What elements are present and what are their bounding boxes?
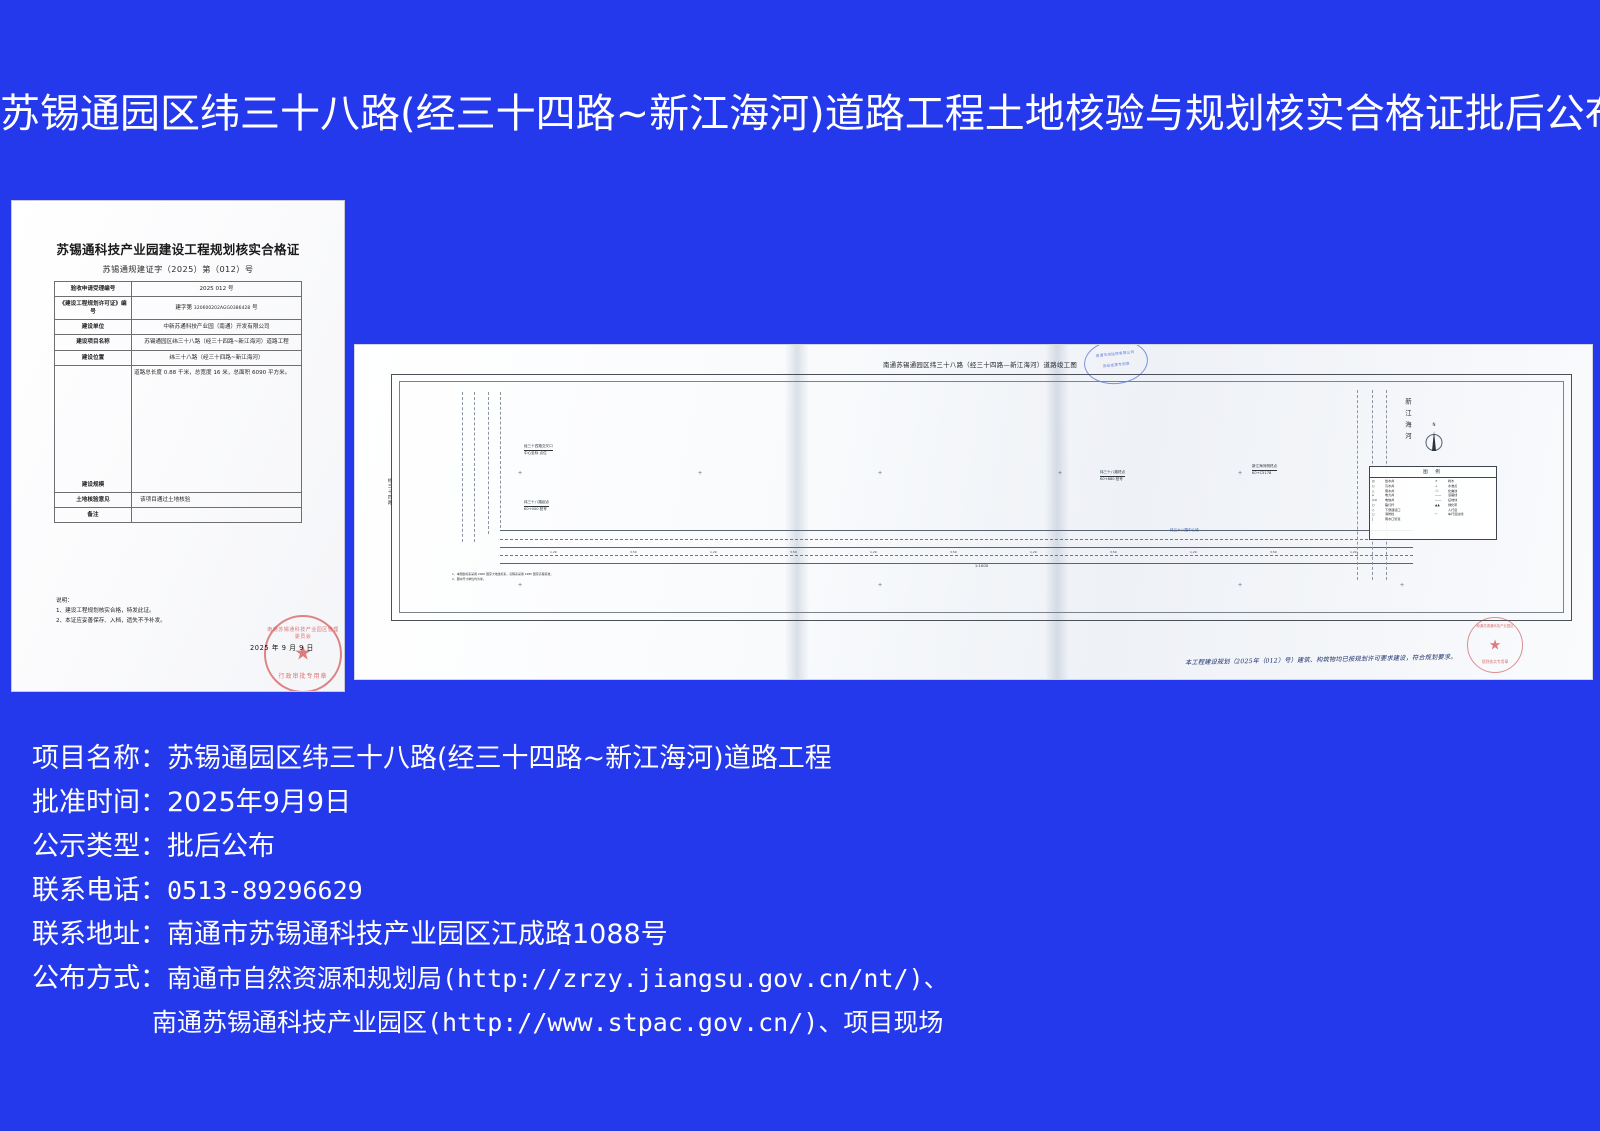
- certificate-scan: 苏锡通科技产业园建设工程规划核实合格证 苏锡通规建证字（2025）第（012）号…: [12, 201, 344, 691]
- row-label: 《建设工程规划许可证》编号: [55, 297, 132, 320]
- certificate-title: 苏锡通科技产业园建设工程规划核实合格证: [12, 239, 344, 258]
- centerline-label: 纬三十八路中心线: [1170, 528, 1199, 533]
- table-row: 建设位置 纬三十八路（经三十四路~新江海河）: [55, 350, 302, 365]
- info-row-publish: 公布方式：南通市自然资源和规划局(http://zrzy.jiangsu.gov…: [32, 957, 1532, 1001]
- table-row: 土地核验意见 该项目通过土地核验: [55, 492, 302, 507]
- table-row: 建设单位 中新苏通科技产业园（南通）开发有限公司: [55, 320, 302, 335]
- row-value: 2025 012 号: [132, 282, 302, 297]
- legend-symbol-icon: ⌐: [1435, 512, 1446, 517]
- legend-item: |雨水口管道: [1372, 517, 1431, 522]
- publish-label: 公布方式：: [32, 963, 167, 994]
- annotation-callout: 经三十四路交叉口 中心坐标 点位: [524, 444, 553, 456]
- row-label: 建设项目名称: [55, 335, 132, 350]
- seal-line-1: 南通市测绘院有限公司: [1084, 349, 1146, 360]
- drawing-note-line: 2、图中尺寸单位均为米。: [452, 577, 553, 582]
- certificate-table: 验收申请受理编号 2025 012 号 《建设工程规划许可证》编号 建字第 32…: [54, 281, 302, 523]
- row-value: 道路总长度 0.88 千米，总宽度 16 米，总面积 6090 平方米。: [132, 365, 302, 492]
- road-corridor: [500, 530, 1413, 564]
- permit-number: 320600202AGG0386428: [194, 306, 250, 311]
- permit-suffix: 号: [252, 305, 258, 311]
- annotation-callout: 纬三十八路终点 K0+880 桩号: [1100, 470, 1125, 482]
- row-value: 纬三十八路（经三十四路~新江海河）: [132, 350, 302, 365]
- row-label: 备注: [55, 507, 132, 522]
- annotation-callout: 新江海河侧终点 K0+C5178: [1252, 464, 1277, 476]
- drawing-scale: 1:1000: [975, 563, 988, 568]
- publish-line-1: 南通市自然资源和规划局(http://zrzy.jiangsu.gov.cn/n…: [167, 964, 949, 993]
- seal-arc-top: 南通苏锡通科技产业园区管理委员会: [266, 626, 340, 640]
- left-road-label: 经三十四路: [386, 478, 392, 506]
- note-line: 2、本证应妥善保存、入档，遗失不予补发。: [56, 617, 306, 627]
- row-value: 该项目通过土地核验: [132, 492, 302, 507]
- certificate-notes: 说明： 1、建设工程规划核实合格，特发此证。 2、本证应妥善保存、入档，遗失不予…: [56, 597, 306, 626]
- row-label: 验收申请受理编号: [55, 282, 132, 297]
- legend-heading: 图 例: [1370, 467, 1496, 478]
- red-official-seal: 南通苏锡通科技产业园区管理委员会 ★ 行政审批专用章: [264, 615, 342, 691]
- legend-text: 雨水口管道: [1385, 517, 1400, 522]
- row-label: 建设规模: [55, 365, 132, 492]
- row-value: 苏锡通园区纬三十八路（经三十四路~新江海河）道路工程: [132, 335, 302, 350]
- phone-value: 0513-89296629: [167, 876, 363, 905]
- table-row: 验收申请受理编号 2025 012 号: [55, 282, 302, 297]
- approval-time-value: 2025年9月9日: [167, 787, 351, 818]
- north-arrow-icon: N: [1423, 428, 1445, 458]
- publicity-poster: 苏锡通园区纬三十八路(经三十四路~新江海河)道路工程土地核验与规划核实合格证批后…: [0, 0, 1600, 1131]
- annotation-callout: 纬三十八路起点 K0+000 桩号: [524, 500, 549, 512]
- seal-arc-bottom: 行政审批专用章: [266, 671, 340, 680]
- row-label: 建设位置: [55, 350, 132, 365]
- row-label: 土地核验意见: [55, 492, 132, 507]
- certificate-serial: 苏锡通规建证字（2025）第（012）号: [12, 263, 344, 275]
- project-name-label: 项目名称：: [32, 743, 167, 774]
- annotation-line-1: 新江海河侧终点: [1252, 464, 1277, 471]
- legend-box: 图 例 ◎给水井 ○污水井 △雨水井 ⌂电力井 ⊙⊙电信井 ○路灯杆 ◇下穿通道…: [1369, 466, 1497, 540]
- engineering-drawing-scan: 南通苏锡通园区纬三十八路（经三十四路—新江海河）道路竣工图 南通市测绘院有限公司…: [355, 345, 1592, 679]
- table-row: 建设规模 道路总长度 0.88 千米，总宽度 16 米，总面积 6090 平方米…: [55, 365, 302, 492]
- legend-symbol-icon: |: [1372, 517, 1383, 522]
- approval-time-label: 批准时间：: [32, 787, 167, 818]
- drawing-border-inner: 经三十四路 新江海河 N: [399, 381, 1564, 613]
- seal-arc-top: 南通苏锡通科技产业园区: [1468, 623, 1522, 628]
- info-row-address: 联系地址：南通市苏锡通科技产业园区江成路1088号: [32, 913, 1532, 957]
- row-label: 建设单位: [55, 320, 132, 335]
- row-value: 建字第 320600202AGG0386428 号: [132, 297, 302, 320]
- annotation-line-1: 纬三十八路起点: [524, 500, 549, 507]
- address-value: 南通市苏锡通科技产业园区江成路1088号: [167, 919, 668, 950]
- note-line: 1、建设工程规划核实合格，特发此证。: [56, 607, 306, 617]
- publicity-type-value: 批后公布: [167, 831, 275, 862]
- row-value: 中新苏通科技产业园（南通）开发有限公司: [132, 320, 302, 335]
- annotation-line-2: K0+880 桩号: [1100, 477, 1123, 481]
- permit-prefix: 建字第: [175, 305, 192, 311]
- info-row-approval-time: 批准时间：2025年9月9日: [32, 781, 1532, 825]
- info-row-phone: 联系电话：0513-89296629: [32, 869, 1532, 913]
- seal-line-2: 测绘成果专用章: [1085, 360, 1147, 371]
- row-value: [132, 507, 302, 522]
- star-icon: ★: [1489, 637, 1502, 651]
- info-row-publish-cont: 南通苏锡通科技产业园区(http://www.stpac.gov.cn/)、项目…: [32, 1001, 1532, 1045]
- certificate-issue-date: 2025 年 9 月 9 日: [250, 642, 314, 652]
- legend-column-left: ◎给水井 ○污水井 △雨水井 ⌂电力井 ⊙⊙电信井 ○路灯杆 ◇下穿通道口 ◻消…: [1370, 478, 1433, 524]
- table-row: 《建设工程规划许可证》编号 建字第 320600202AGG0386428 号: [55, 297, 302, 320]
- seal-arc-bottom: 规划核实专用章: [1468, 659, 1522, 665]
- river-label: 新江海河: [1404, 398, 1413, 444]
- legend-column-right: ✕树木 ⊥水准点 ⌷⌷化粪池 ——道路线 ——征地线 ▲▲绿化带 人行道 ⌐车行…: [1433, 478, 1496, 524]
- info-row-project: 项目名称：苏锡通园区纬三十八路(经三十四路~新江海河)道路工程: [32, 737, 1532, 781]
- annotation-line-1: 经三十四路交叉口: [524, 444, 553, 451]
- drawing-notes: 1、本图坐标系采用 2000 国家大地坐标系，高程系采用 1985 国家高程基准…: [452, 572, 553, 582]
- table-row: 建设项目名称 苏锡通园区纬三十八路（经三十四路~新江海河）道路工程: [55, 335, 302, 350]
- project-name-value: 苏锡通园区纬三十八路(经三十四路~新江海河)道路工程: [167, 743, 832, 774]
- annotation-line-1: 纬三十八路终点: [1100, 470, 1125, 477]
- publicity-type-label: 公示类型：: [32, 831, 167, 862]
- address-label: 联系地址：: [32, 919, 167, 950]
- table-row: 备注: [55, 507, 302, 522]
- publish-line-2: 南通苏锡通科技产业园区(http://www.stpac.gov.cn/)、项目…: [152, 1008, 943, 1037]
- legend-item: ⌐车行道边线: [1435, 512, 1494, 517]
- red-round-seal: 南通苏锡通科技产业园区 ★ 规划核实专用章: [1467, 617, 1523, 673]
- phone-label: 联系电话：: [32, 875, 167, 906]
- legend-text: 车行道边线: [1448, 512, 1463, 517]
- annotation-line-2: 中心坐标 点位: [524, 451, 547, 455]
- page-title: 苏锡通园区纬三十八路(经三十四路~新江海河)道路工程土地核验与规划核实合格证批后…: [0, 88, 1600, 140]
- info-row-publicity-type: 公示类型：批后公布: [32, 825, 1532, 869]
- annotation-line-2: K0+000 桩号: [524, 507, 547, 511]
- info-block: 项目名称：苏锡通园区纬三十八路(经三十四路~新江海河)道路工程 批准时间：202…: [32, 737, 1532, 1045]
- annotation-line-2: K0+C5178: [1252, 471, 1271, 475]
- notes-heading: 说明：: [56, 597, 306, 607]
- north-label: N: [1433, 422, 1436, 427]
